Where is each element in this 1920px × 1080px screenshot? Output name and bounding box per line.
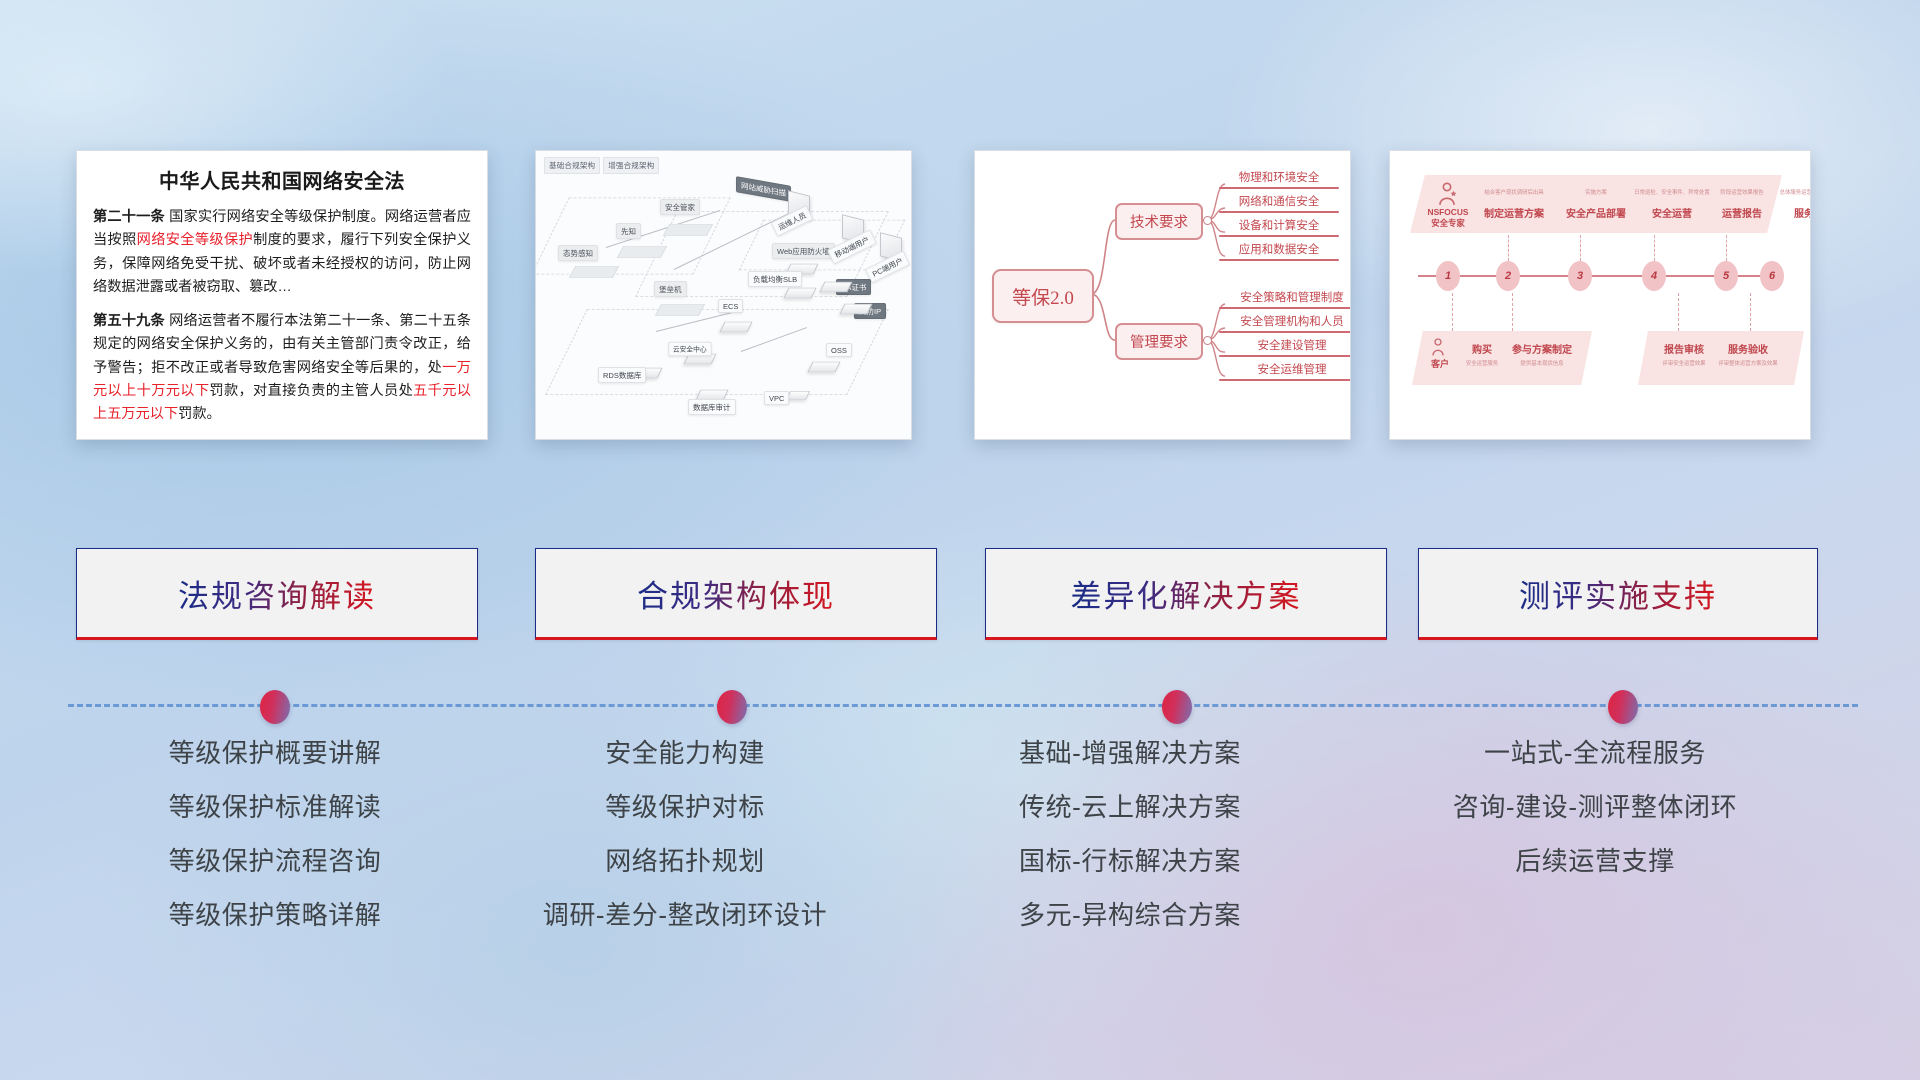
article-59-body: 网络运营者不履行本法第二十一条、第二十五条规定的网络安全保护义务的，由有关主管部… [93, 313, 471, 423]
timeline-marker-4[interactable] [1608, 690, 1638, 724]
expert-brand: NSFOCUS [1428, 207, 1469, 217]
timeline-node-2[interactable]: 2 [1496, 261, 1520, 291]
timeline-node-4[interactable]: 4 [1642, 261, 1666, 291]
infographic-root: 中华人民共和国网络安全法 第二十一条 国家实行网络安全等级保护制度。网络运营者应… [0, 0, 1920, 1080]
arch-label-vpc: VPC [764, 391, 789, 405]
mindmap-branch-technical[interactable]: 技术要求 [1115, 203, 1203, 240]
tick-1 [1508, 235, 1510, 261]
arch-label-situational-awareness: 态势感知 [558, 245, 598, 261]
mindmap-leaf-ops-mgmt: 安全运维管理 [1219, 361, 1351, 381]
thumbnail-card-row: 中华人民共和国网络安全法 第二十一条 国家实行网络安全等级保护制度。网络运营者应… [0, 150, 1920, 440]
list-item: 国标-行标解决方案 [930, 848, 1330, 874]
bottom-step-title-3: 报告审核 [1656, 341, 1712, 356]
tick-6 [1512, 293, 1514, 331]
arch-node-vpc [788, 389, 808, 402]
bottom-step-sub-4: 评审整体运营方案及效果 [1712, 359, 1784, 367]
leaf-label: 安全管理机构和人员 [1219, 313, 1351, 331]
mindmap-leaf-network-comm: 网络和通信安全 [1219, 193, 1339, 213]
mindmap-leaf-device-compute: 设备和计算安全 [1219, 217, 1339, 237]
leaf-label: 应用和数据安全 [1219, 241, 1339, 259]
mindmap: 等保2.0 技术要求 管理要求 物理和环境安全 网络和通信安全 设备和计算安全 … [975, 151, 1350, 439]
arch-label-rds: RDS数据库 [598, 367, 646, 383]
law-text: 罚款。 [178, 406, 221, 422]
timeline-dashed-line [68, 704, 1858, 707]
law-article-21: 第二十一条 国家实行网络安全等级保护制度。网络运营者应当按照网络安全等级保护制度… [93, 206, 471, 300]
list-item: 一站式-全流程服务 [1370, 740, 1820, 766]
section-header-regulation-consulting[interactable]: 法规咨询解读 [76, 548, 478, 640]
architecture-diagram: 基础合规架构 增强合规架构 态势感知 先知 安全管家 网站威胁扫描 [536, 151, 911, 439]
list-item: 等级保护对标 [470, 794, 900, 820]
bottom-step-sub-3: 评审安全运营效果 [1650, 359, 1718, 367]
arch-label-oss: OSS [826, 343, 852, 357]
detail-column-assessment: 一站式-全流程服务 咨询-建设-测评整体闭环 后续运营支撑 [1370, 740, 1820, 902]
section-header-differentiated-solution[interactable]: 差异化解决方案 [985, 548, 1387, 640]
arch-node-slb [786, 285, 814, 301]
arch-node-oss [810, 359, 838, 375]
top-step-title-2: 安全产品部署 [1554, 205, 1638, 220]
customer-icon [1428, 337, 1448, 357]
timeline-node-5[interactable]: 5 [1714, 261, 1738, 291]
arch-node-ecs [722, 319, 750, 335]
top-step-sub-5: 总体服务运营情况及总体运营效果 [1768, 188, 1811, 196]
bottom-step-sub-2: 提供基本现状信息 [1508, 359, 1576, 367]
architecture-tabs: 基础合规架构 增强合规架构 [544, 157, 659, 174]
top-step-sub-1: 结合客户现状调研后出具 [1472, 188, 1556, 196]
mindmap-leaf-org-personnel: 安全管理机构和人员 [1219, 313, 1351, 333]
customer-label: 客户 [1420, 357, 1460, 370]
law-text: 罚款，对直接负责的主管人员处 [209, 383, 413, 399]
list-item: 等级保护概要讲解 [60, 740, 490, 766]
tick-7 [1678, 293, 1680, 331]
detail-column-solution: 基础-增强解决方案 传统-云上解决方案 国标-行标解决方案 多元-异构综合方案 [930, 740, 1330, 956]
top-step-title-5: 服务报告 [1774, 205, 1811, 220]
arch-label-website-threat-scan: 网站威胁扫描 [736, 176, 791, 202]
section-header-compliance-architecture[interactable]: 合规架构体现 [535, 548, 937, 640]
timeline-node-3[interactable]: 3 [1568, 261, 1592, 291]
arch-label-db-audit: 数据库审计 [688, 399, 736, 415]
list-item: 基础-增强解决方案 [930, 740, 1330, 766]
mindmap-branch-management[interactable]: 管理要求 [1115, 323, 1203, 360]
bottom-step-title-2: 参与方案制定 [1508, 341, 1576, 356]
arch-label-prophet: 先知 [616, 223, 641, 239]
leaf-label: 设备和计算安全 [1219, 217, 1339, 235]
security-expert-icon [1434, 181, 1460, 207]
list-item: 等级保护标准解读 [60, 794, 490, 820]
leaf-label: 安全策略和管理制度 [1219, 289, 1351, 307]
dashed-timeline [0, 686, 1920, 726]
section-header-label: 合规架构体现 [637, 571, 835, 616]
list-item: 后续运营支撑 [1370, 848, 1820, 874]
tick-3 [1654, 235, 1656, 261]
arch-label-cloud-security-center: 云安全中心 [668, 342, 711, 356]
mindmap-collapse-dot-management[interactable] [1203, 336, 1212, 345]
detail-column-regulation: 等级保护概要讲解 等级保护标准解读 等级保护流程咨询 等级保护策略详解 [60, 740, 490, 956]
mindmap-leaf-build-mgmt: 安全建设管理 [1219, 337, 1351, 357]
timeline-marker-3[interactable] [1162, 690, 1192, 724]
card-cybersecurity-law[interactable]: 中华人民共和国网络安全法 第二十一条 国家实行网络安全等级保护制度。网络运营者应… [76, 150, 488, 440]
law-highlight: 网络安全等级保护 [137, 232, 253, 248]
arch-node-security-steward [666, 219, 710, 241]
tab-basic-architecture[interactable]: 基础合规架构 [544, 157, 600, 174]
card-nsfocus-service-timeline[interactable]: NSFOCUS 安全专家 结合客户现状调研后出具 制定运营方案 实施方案 安全产… [1389, 150, 1811, 440]
card-compliance-architecture[interactable]: 基础合规架构 增强合规架构 态势感知 先知 安全管家 网站威胁扫描 [535, 150, 912, 440]
section-header-label: 法规咨询解读 [178, 571, 376, 616]
mindmap-root-node[interactable]: 等保2.0 [992, 269, 1094, 323]
detail-column-row: 等级保护概要讲解 等级保护标准解读 等级保护流程咨询 等级保护策略详解 安全能力… [0, 740, 1920, 970]
card-mindmap-dengbao[interactable]: 等保2.0 技术要求 管理要求 物理和环境安全 网络和通信安全 设备和计算安全 … [974, 150, 1351, 440]
law-title: 中华人民共和国网络安全法 [93, 165, 471, 194]
timeline-marker-2[interactable] [717, 690, 747, 724]
tick-8 [1750, 293, 1752, 331]
section-header-label: 差异化解决方案 [1071, 571, 1302, 616]
arch-label-security-steward: 安全管家 [660, 199, 700, 215]
arch-node-prophet [620, 241, 664, 263]
article-59-label: 第五十九条 [93, 313, 165, 329]
arch-node-ca [822, 279, 850, 295]
arch-label-waf: Web应用防火墙 [772, 243, 835, 259]
law-article-59: 第五十九条 网络运营者不履行本法第二十一条、第二十五条规定的网络安全保护义务的，… [93, 310, 471, 427]
detail-column-architecture: 安全能力构建 等级保护对标 网络拓扑规划 调研-差分-整改闭环设计 [470, 740, 900, 956]
arch-node-situational-awareness [572, 261, 616, 283]
leaf-label: 网络和通信安全 [1219, 193, 1339, 211]
mindmap-leaf-app-data: 应用和数据安全 [1219, 241, 1339, 261]
timeline-node-1[interactable]: 1 [1436, 261, 1460, 291]
top-step-title-1: 制定运营方案 [1472, 205, 1556, 220]
tick-2 [1580, 235, 1582, 261]
bottom-step-sub-1: 安全运营服务 [1458, 359, 1506, 367]
expert-label: NSFOCUS 安全专家 [1420, 207, 1476, 228]
section-header-label: 测评实施支持 [1519, 571, 1717, 616]
section-header-row: 法规咨询解读 合规架构体现 差异化解决方案 测评实施支持 [0, 548, 1920, 648]
list-item: 多元-异构综合方案 [930, 902, 1330, 928]
mindmap-leaf-physical-env: 物理和环境安全 [1219, 169, 1339, 189]
arch-node-bastion-host [658, 299, 702, 321]
expert-role: 安全专家 [1431, 218, 1465, 228]
tick-5 [1452, 293, 1454, 331]
arch-node-anti-ddos [842, 301, 870, 317]
list-item: 调研-差分-整改闭环设计 [470, 902, 900, 928]
bottom-step-title-1: 购买 [1462, 341, 1502, 356]
nsfocus-timeline: NSFOCUS 安全专家 结合客户现状调研后出具 制定运营方案 实施方案 安全产… [1390, 151, 1810, 439]
list-item: 等级保护策略详解 [60, 902, 490, 928]
top-step-title-4: 运营报告 [1702, 205, 1782, 220]
leaf-label: 物理和环境安全 [1219, 169, 1339, 187]
law-content: 中华人民共和国网络安全法 第二十一条 国家实行网络安全等级保护制度。网络运营者应… [77, 151, 487, 439]
section-header-assessment-support[interactable]: 测评实施支持 [1418, 548, 1818, 640]
leaf-label: 安全建设管理 [1219, 337, 1351, 355]
list-item: 传统-云上解决方案 [930, 794, 1330, 820]
arch-label-bastion-host: 堡垒机 [654, 281, 687, 297]
timeline-marker-1[interactable] [260, 690, 290, 724]
arch-label-ecs: ECS [718, 299, 743, 313]
mindmap-collapse-dot-technical[interactable] [1203, 216, 1212, 225]
leaf-label: 安全运维管理 [1219, 361, 1351, 379]
list-item: 咨询-建设-测评整体闭环 [1370, 794, 1820, 820]
list-item: 安全能力构建 [470, 740, 900, 766]
article-21-label: 第二十一条 [93, 209, 165, 225]
list-item: 网络拓扑规划 [470, 848, 900, 874]
bottom-step-title-4: 服务验收 [1720, 341, 1776, 356]
customer-band-right [1638, 331, 1804, 385]
mindmap-leaf-policy-system: 安全策略和管理制度 [1219, 289, 1351, 309]
tab-enhanced-architecture[interactable]: 增强合规架构 [603, 157, 659, 174]
list-item: 等级保护流程咨询 [60, 848, 490, 874]
timeline-node-6[interactable]: 6 [1760, 261, 1784, 291]
tick-4 [1726, 235, 1728, 261]
